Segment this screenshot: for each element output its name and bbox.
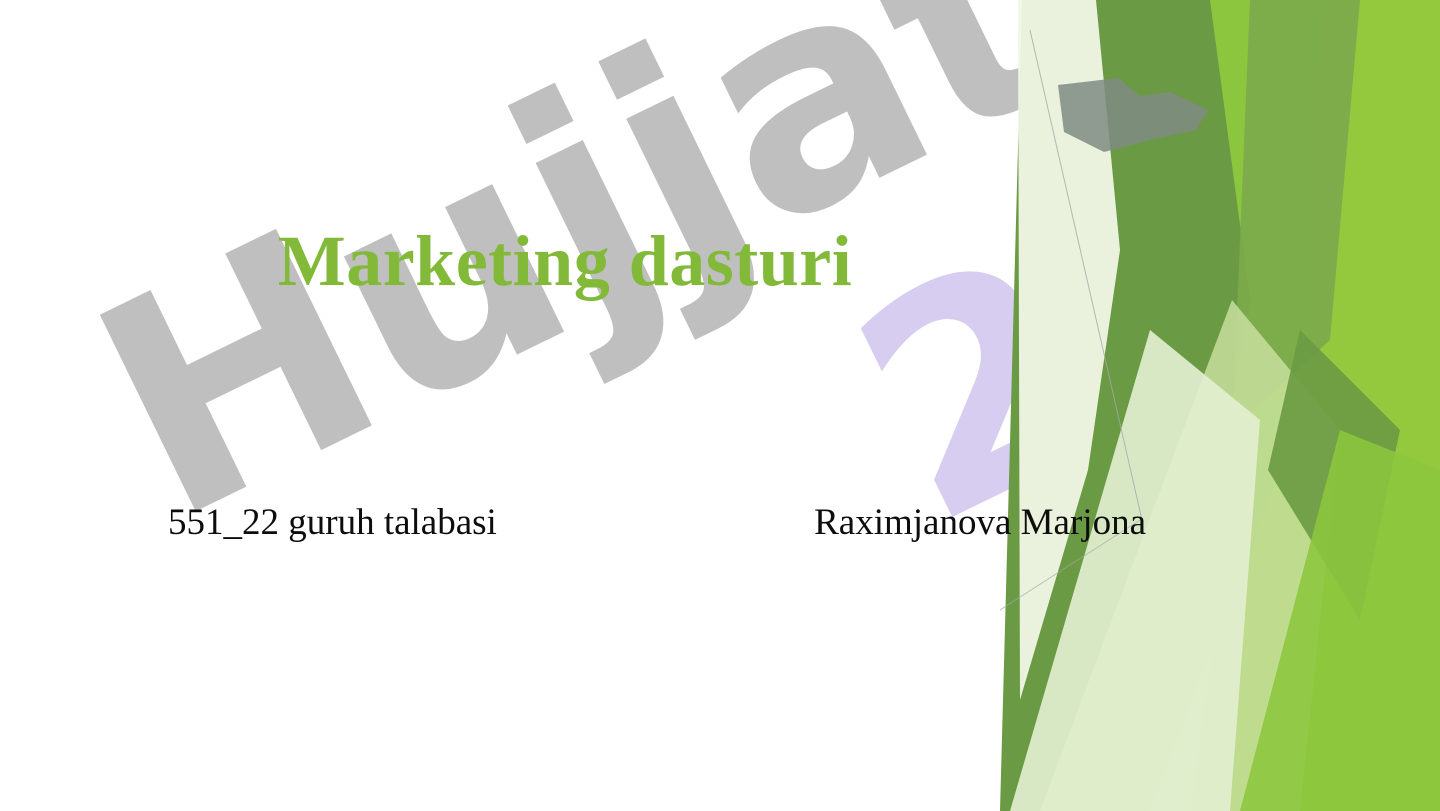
- slide-content: Marketing dasturi 551_22 guruh talabasi …: [0, 0, 1440, 811]
- subtitle-group-label: 551_22 guruh talabasi: [168, 500, 497, 546]
- presentation-slide: Hujjat 24: [0, 0, 1440, 811]
- subtitle-author-name: Raximjanova Marjona: [814, 500, 1158, 546]
- slide-title: Marketing dasturi: [0, 224, 1130, 300]
- slide-subtitle: 551_22 guruh talabasi Raximjanova Marjon…: [168, 500, 1158, 546]
